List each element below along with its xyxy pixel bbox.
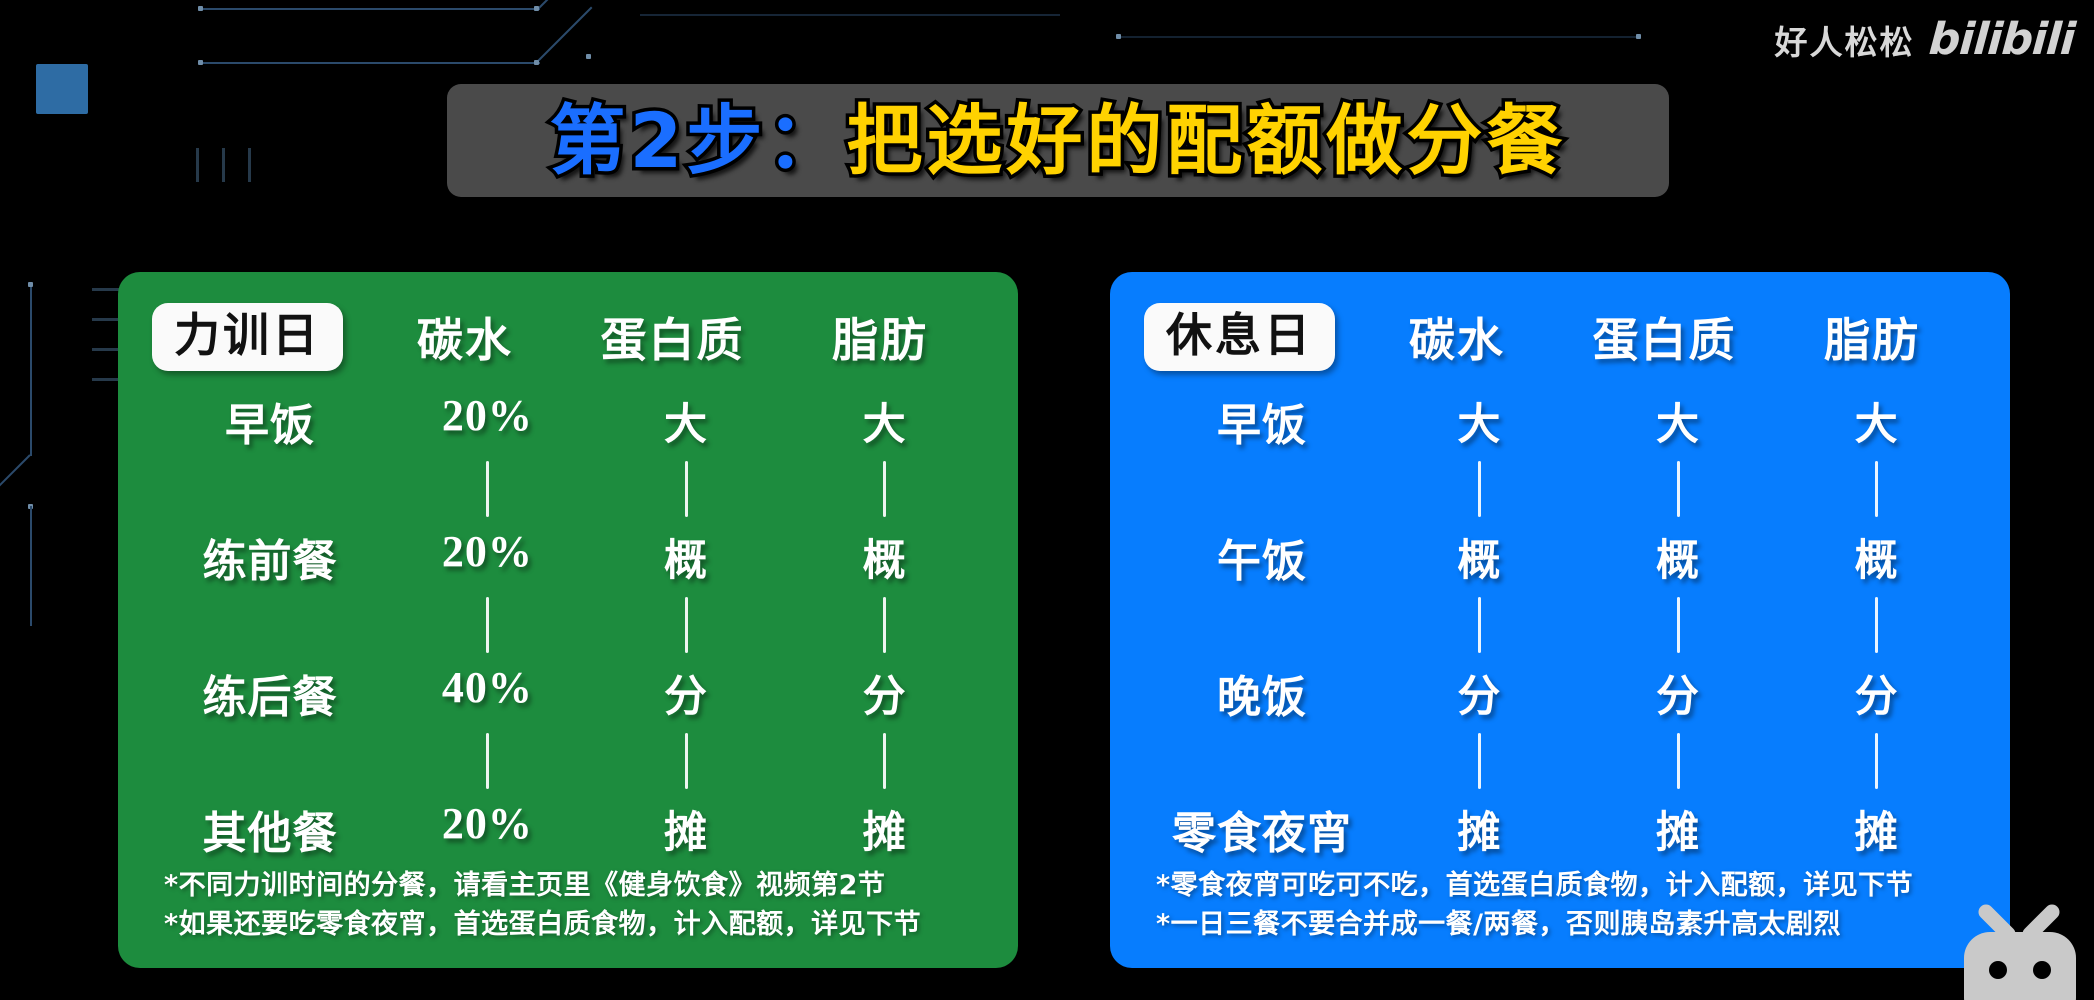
footnote: *零食夜宵可吃可不吃，首选蛋白质食物，计入配额，详见下节 <box>1156 867 1976 905</box>
cell-carbs: 20% <box>388 798 587 860</box>
table-row: 练前餐 20% 概 概 <box>152 525 984 589</box>
connector-line-protein <box>1677 597 1680 653</box>
table-row: 早饭 20% 大 大 <box>152 389 984 453</box>
connector-line-carbs <box>486 461 489 517</box>
table-row: 其他餐 20% 摊 摊 <box>152 797 984 861</box>
row-connector <box>152 453 984 525</box>
training-day-card: 力训日 碳水 蛋白质 脂肪 早饭 20% 大 大 练前餐 <box>118 272 1018 968</box>
watermark: 好人松松 bilibili <box>1775 14 2074 65</box>
connector-line-protein <box>685 461 688 517</box>
connector-line-fat <box>1875 461 1878 517</box>
meal-name: 其他餐 <box>152 797 388 861</box>
title-rest: 把选好的配额做分餐 <box>846 96 1566 185</box>
connector-line-carbs <box>1478 597 1481 653</box>
page-title: 第2步：把选好的配额做分餐 <box>550 103 1567 179</box>
connector-line-fat <box>883 597 886 653</box>
connector-line-fat <box>1875 733 1878 789</box>
connector-line-fat <box>883 733 886 789</box>
column-header-carbs: 碳水 <box>1353 304 1561 370</box>
meal-name: 午饭 <box>1144 525 1380 589</box>
cell-carbs: 概 <box>1380 526 1579 588</box>
column-header-fat: 脂肪 <box>776 304 984 370</box>
column-headers: 碳水 蛋白质 脂肪 <box>1353 304 1976 370</box>
cell-protein: 大 <box>587 390 786 452</box>
column-headers: 碳水 蛋白质 脂肪 <box>361 304 984 370</box>
meal-name: 早饭 <box>1144 389 1380 453</box>
cell-fat: 分 <box>1777 662 1976 724</box>
column-header-protein: 蛋白质 <box>1561 304 1769 370</box>
connector-line-protein <box>1677 461 1680 517</box>
table-row: 早饭 大 大 大 <box>1144 389 1976 453</box>
connector-line-protein <box>685 597 688 653</box>
cell-fat: 大 <box>1777 390 1976 452</box>
table-row: 晚饭 分 分 分 <box>1144 661 1976 725</box>
card-footnotes: *零食夜宵可吃可不吃，首选蛋白质食物，计入配额，详见下节 *一日三餐不要合并成一… <box>1144 867 1976 948</box>
cell-fat: 概 <box>1777 526 1976 588</box>
table-row: 练后餐 40% 分 分 <box>152 661 984 725</box>
cell-carbs: 20% <box>388 390 587 452</box>
cell-protein: 大 <box>1579 390 1778 452</box>
day-type-badge: 力训日 <box>152 303 343 371</box>
cell-fat: 大 <box>785 390 984 452</box>
bilibili-logo: bilibili <box>1927 14 2076 65</box>
channel-name: 好人松松 <box>1775 16 1915 64</box>
meal-name: 零食夜宵 <box>1144 797 1380 861</box>
footnote: *如果还要吃零食夜宵，首选蛋白质食物，计入配额，详见下节 <box>164 906 984 944</box>
card-header: 休息日 碳水 蛋白质 脂肪 <box>1144 298 1976 376</box>
connector-line-protein <box>685 733 688 789</box>
footnote: *不同力训时间的分餐，请看主页里《健身饮食》视频第2节 <box>164 867 984 905</box>
cell-carbs: 摊 <box>1380 798 1579 860</box>
meal-name: 练后餐 <box>152 661 388 725</box>
cell-fat: 摊 <box>785 798 984 860</box>
cell-fat: 摊 <box>1777 798 1976 860</box>
rest-day-card: 休息日 碳水 蛋白质 脂肪 早饭 大 大 大 午饭 <box>1110 272 2010 968</box>
column-header-protein: 蛋白质 <box>569 304 777 370</box>
cell-protein: 摊 <box>1579 798 1778 860</box>
meal-name: 晚饭 <box>1144 661 1380 725</box>
connector-line-carbs <box>1478 461 1481 517</box>
cell-protein: 概 <box>1579 526 1778 588</box>
cell-carbs: 20% <box>388 526 587 588</box>
day-type-badge: 休息日 <box>1144 303 1335 371</box>
meal-name: 练前餐 <box>152 525 388 589</box>
column-header-fat: 脂肪 <box>1768 304 1976 370</box>
cell-carbs: 40% <box>388 662 587 724</box>
row-connector <box>1144 453 1976 525</box>
cell-fat: 分 <box>785 662 984 724</box>
page-title-bar: 第2步：把选好的配额做分餐 <box>447 84 1669 197</box>
table-row: 零食夜宵 摊 摊 摊 <box>1144 797 1976 861</box>
connector-line-carbs <box>1478 733 1481 789</box>
column-header-carbs: 碳水 <box>361 304 569 370</box>
connector-line-protein <box>1677 733 1680 789</box>
card-header: 力训日 碳水 蛋白质 脂肪 <box>152 298 984 376</box>
table-row: 午饭 概 概 概 <box>1144 525 1976 589</box>
row-connector <box>1144 725 1976 797</box>
meal-table: 早饭 大 大 大 午饭 概 概 概 <box>1144 376 1976 867</box>
cell-protein: 摊 <box>587 798 786 860</box>
cell-carbs: 分 <box>1380 662 1579 724</box>
cell-protein: 概 <box>587 526 786 588</box>
cell-protein: 分 <box>1579 662 1778 724</box>
cell-fat: 概 <box>785 526 984 588</box>
connector-line-fat <box>883 461 886 517</box>
meal-name: 早饭 <box>152 389 388 453</box>
connector-line-carbs <box>486 597 489 653</box>
bilibili-tv-icon <box>1942 898 2092 1000</box>
card-footnotes: *不同力训时间的分餐，请看主页里《健身饮食》视频第2节 *如果还要吃零食夜宵，首… <box>152 867 984 948</box>
meal-table: 早饭 20% 大 大 练前餐 20% 概 概 <box>152 376 984 867</box>
title-step: 第2步： <box>550 96 847 185</box>
row-connector <box>152 725 984 797</box>
row-connector <box>1144 589 1976 661</box>
row-connector <box>152 589 984 661</box>
cell-protein: 分 <box>587 662 786 724</box>
footnote: *一日三餐不要合并成一餐/两餐，否则胰岛素升高太剧烈 <box>1156 906 1976 944</box>
cell-carbs: 大 <box>1380 390 1579 452</box>
connector-line-carbs <box>486 733 489 789</box>
connector-line-fat <box>1875 597 1878 653</box>
